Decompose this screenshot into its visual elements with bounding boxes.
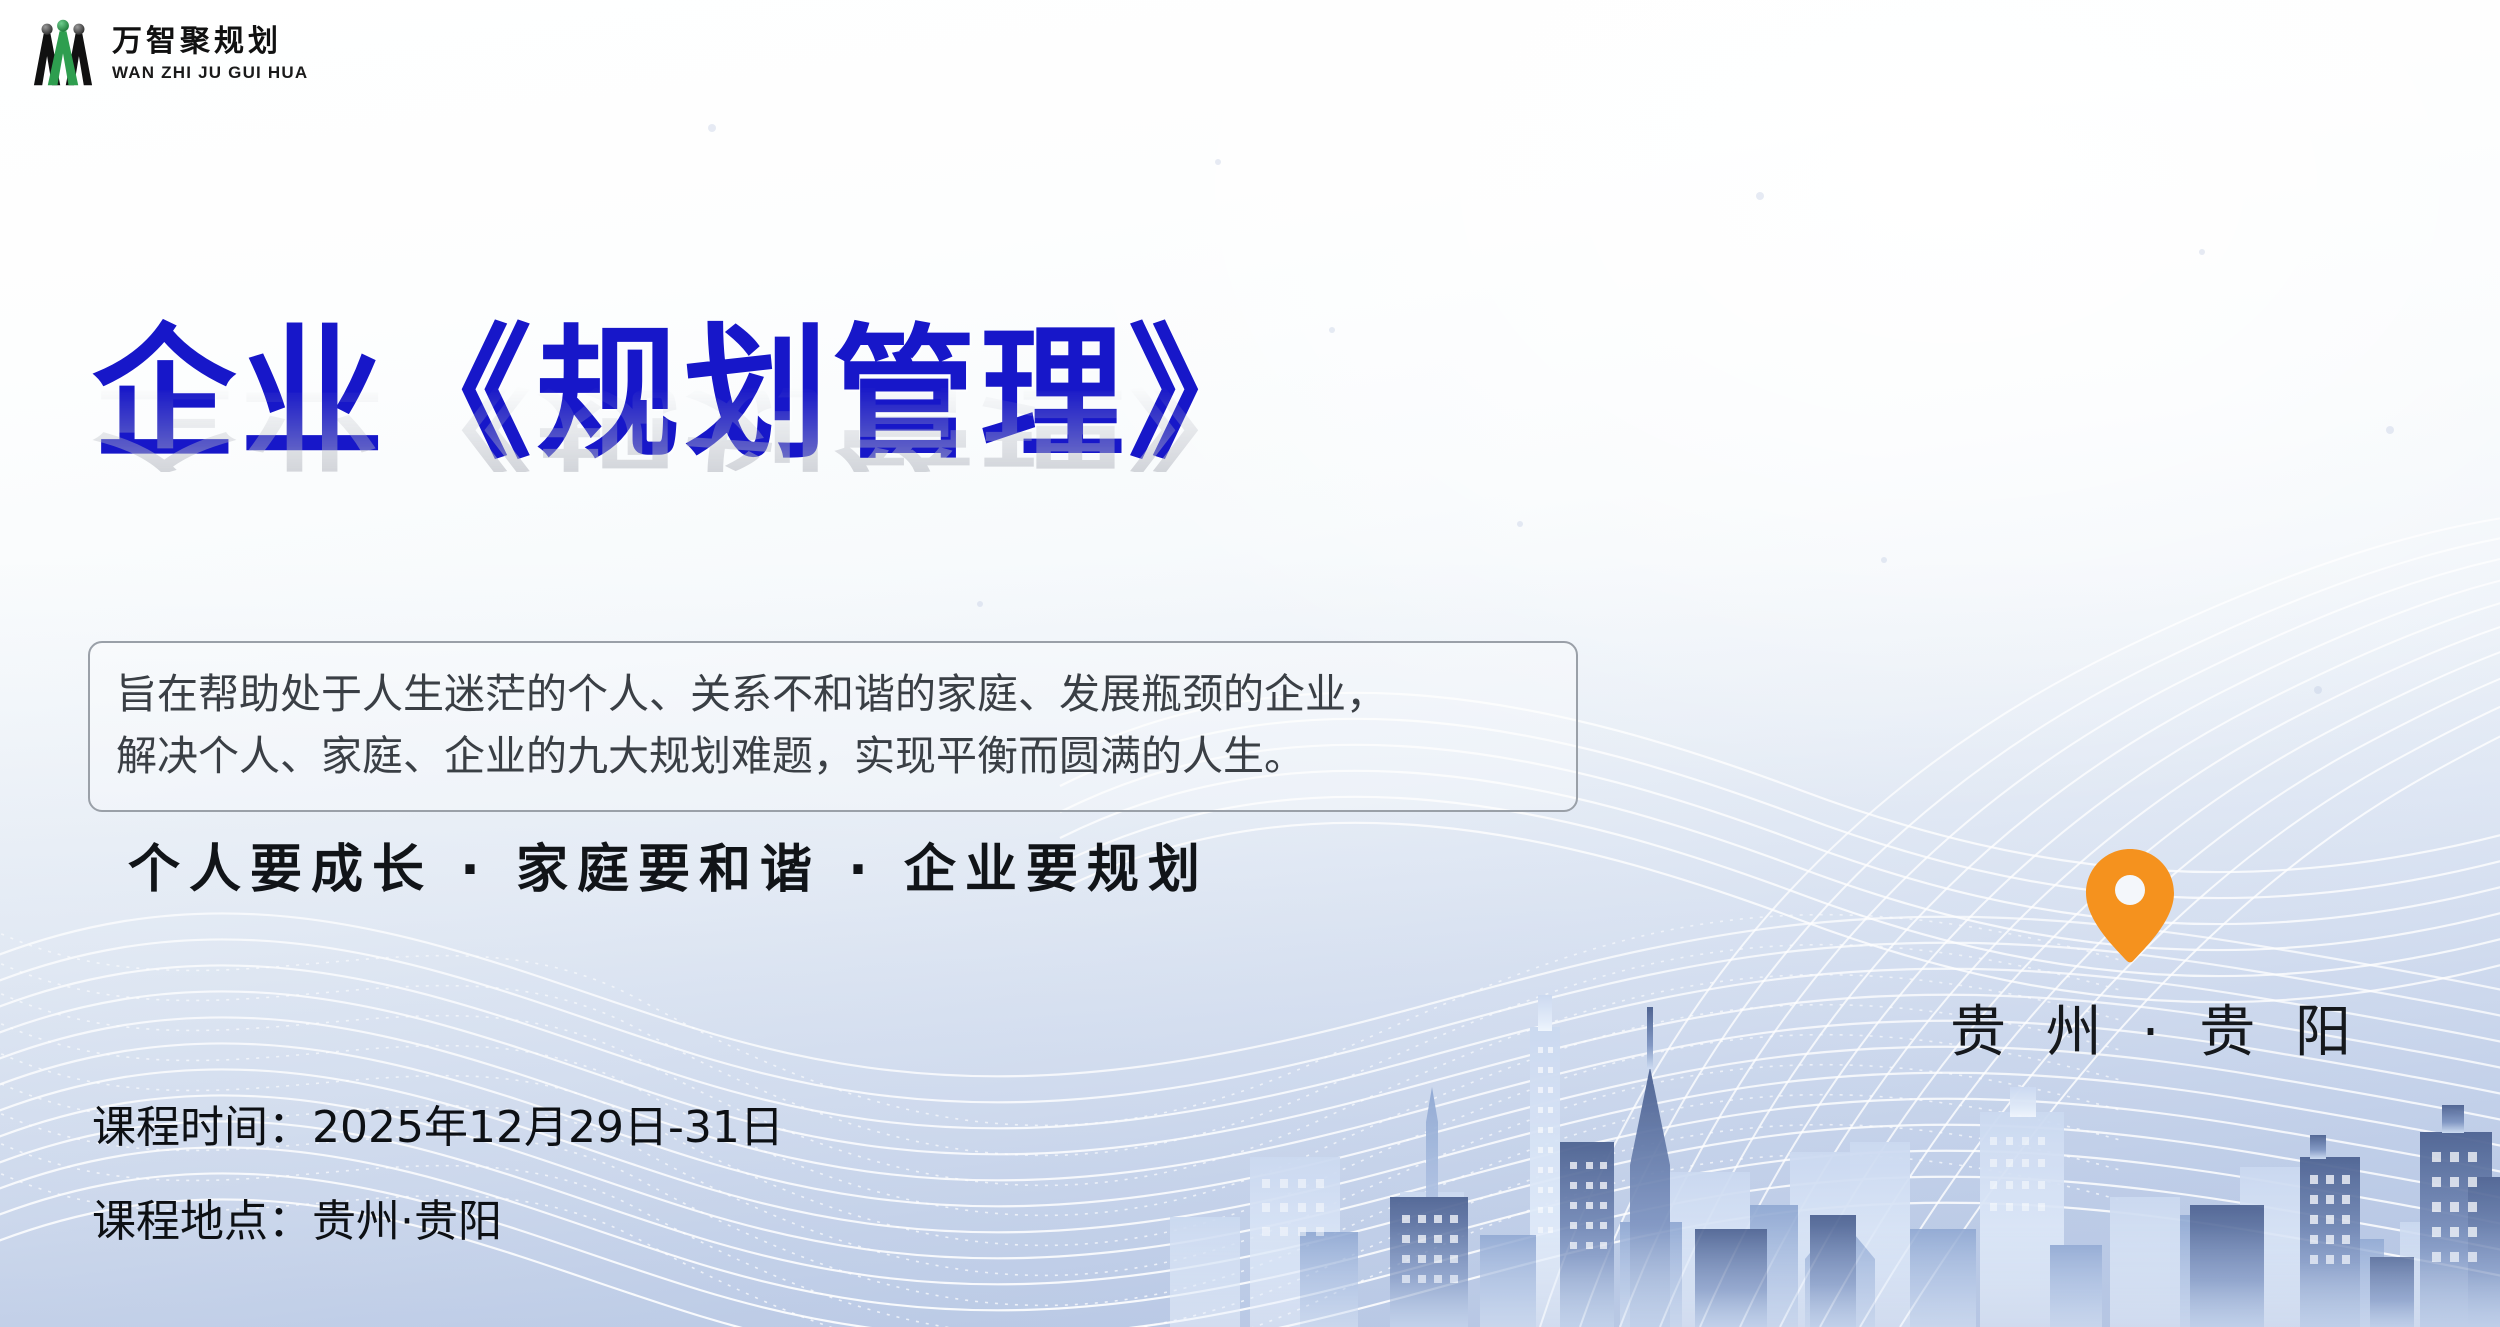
course-info-block: 课程时间：2025年12月29日-31日 课程地点：贵州·贵阳: [92, 1106, 784, 1244]
page-title-reflection: 企业《规划管理》: [92, 383, 1276, 472]
three-people-mountain-logo-icon: [28, 16, 98, 88]
description-box: 旨在帮助处于人生迷茫的个人、关系不和谐的家庭、发展瓶颈的企业， 解决个人、家庭、…: [88, 641, 1578, 812]
location-block: 贵 州 · 贵 阳: [1950, 845, 2310, 1068]
hero-title-block: 企业《规划管理》 企业《规划管理》: [92, 322, 1276, 616]
brand-text: 万智聚规划 WAN ZHI JU GUI HUA: [112, 23, 308, 81]
poster-canvas: 万智聚规划 WAN ZHI JU GUI HUA 企业《规划管理》 企业《规划管…: [0, 0, 2500, 1327]
brand-name-en: WAN ZHI JU GUI HUA: [112, 64, 308, 81]
brand-name-cn: 万智聚规划: [112, 27, 308, 57]
map-pin-icon: [2082, 845, 2178, 965]
location-label: 贵 州 · 贵 阳: [1950, 987, 2310, 1068]
tagline: 个人要成长 · 家庭要和谐 · 企业要规划: [128, 827, 1209, 902]
description-line-2: 解决个人、家庭、企业的九大规划难题，实现平衡而圆满的人生。: [116, 725, 1550, 787]
description-line-1: 旨在帮助处于人生迷茫的个人、关系不和谐的家庭、发展瓶颈的企业，: [116, 663, 1550, 725]
course-place: 课程地点：贵州·贵阳: [92, 1200, 784, 1244]
brand-logo[interactable]: 万智聚规划 WAN ZHI JU GUI HUA: [28, 16, 308, 88]
course-time: 课程时间：2025年12月29日-31日: [92, 1106, 784, 1150]
